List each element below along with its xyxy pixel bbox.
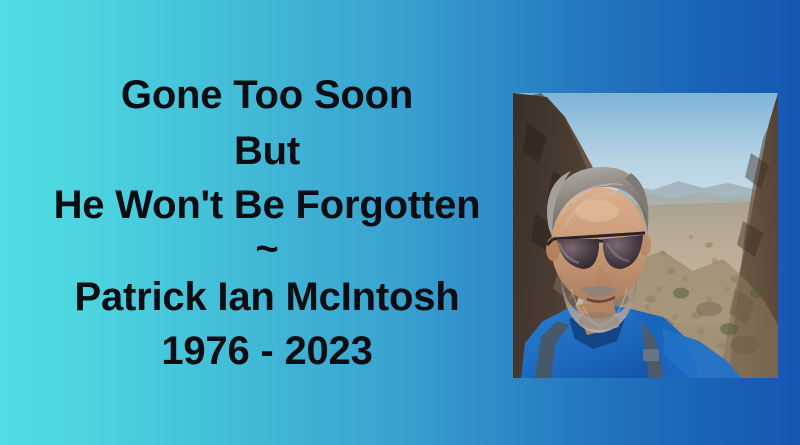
memorial-card: Gone Too Soon But He Won't Be Forgotten … — [0, 0, 800, 445]
portrait-frame — [513, 93, 778, 378]
portrait-photo — [513, 93, 778, 378]
